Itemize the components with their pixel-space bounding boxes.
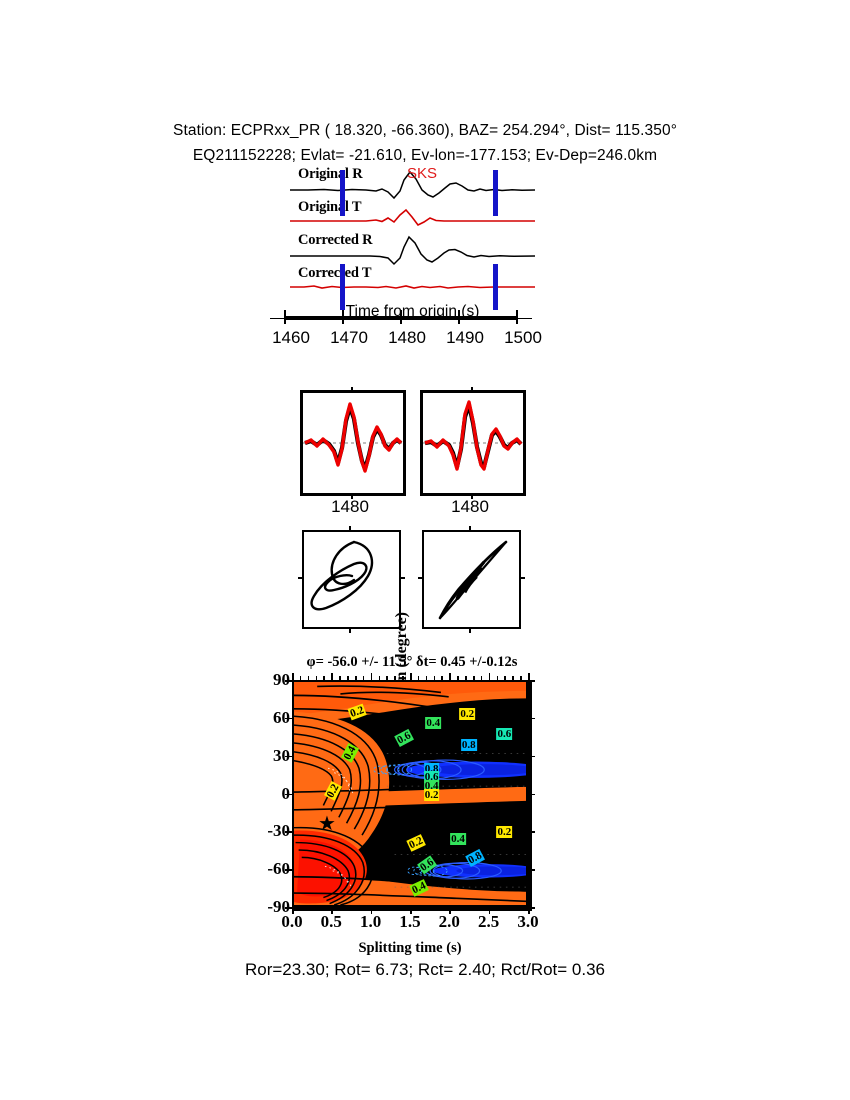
time-tick: 1470 [330,328,368,348]
y-tick-label: 90 [244,670,290,690]
particle-motion-corrected-curve [424,532,519,627]
particle-motion-box-corrected [422,530,521,629]
trace-row: Corrected T [290,267,535,300]
axis-tick [285,869,292,871]
trace-row: Original T [290,201,535,234]
axis-tick [489,673,491,680]
axis-tick [497,676,499,680]
particle-motion-uncorrected-curve [304,532,399,627]
axis-tick [292,673,294,680]
time-axis [262,310,540,324]
axis-tick [426,907,428,911]
y-tick-label: -60 [244,859,290,879]
axis-tick [371,673,373,680]
waveform-trace-panel: Original R Original T Corrected R Correc… [290,168,535,303]
trace-label: Corrected T [298,265,371,282]
axis-tick [379,676,381,680]
axis-tick [441,907,443,911]
axis-tick [528,680,535,682]
axis-tick [339,676,341,680]
axis-tick [441,676,443,680]
axis-tick [379,907,381,911]
axis-tick [449,673,451,680]
window-marker-start [340,170,345,216]
axis-tick [394,907,396,911]
axis-tick [481,907,483,911]
axis-tick [418,907,420,911]
axis-tick [285,907,292,909]
fast-slow-waveform-box [300,390,406,496]
axis-tick [426,676,428,680]
axis-tick [465,907,467,911]
quality-metrics-line: Ror=23.30; Rot= 6.73; Rct= 2.40; Rct/Rot… [0,960,850,980]
axis-tick [308,676,310,680]
contour-value-label: 0.4 [425,717,441,729]
axis-tick [528,869,535,871]
axis-tick [418,676,420,680]
axis-tick [339,907,341,911]
axis-tick [323,907,325,911]
y-tick-label: -30 [244,821,290,841]
window-marker-end [493,170,498,216]
station-info-line: Station: ECPRxx_PR ( 18.320, -66.360), B… [0,118,850,143]
axis-tick [473,676,475,680]
axis-tick [347,676,349,680]
trace-label: Original R [298,166,362,183]
axis-tick [465,676,467,680]
axis-tick [489,907,491,914]
axis-tick [402,676,404,680]
axis-tick [323,676,325,680]
time-tick: 1500 [504,328,542,348]
axis-tick [285,680,292,682]
axis-tick [285,794,292,796]
axis-tick [512,907,514,911]
axis-tick [528,673,530,680]
waveform-box-label: 1480 [297,497,403,517]
energy-contour-plot: Fast direction (degree) 90 60 30 0 -30 -… [292,680,528,907]
axis-tick [528,794,535,796]
fast-slow-overlay-curves [423,393,523,493]
y-tick-label: 30 [244,746,290,766]
axis-tick [285,831,292,833]
axis-tick [434,676,436,680]
figure-header: Station: ECPRxx_PR ( 18.320, -66.360), B… [0,118,850,168]
axis-tick [449,907,451,914]
trace-row: Corrected R [290,234,535,267]
y-tick-label: 0 [244,784,290,804]
axis-tick [308,907,310,911]
axis-tick [402,907,404,911]
x-tick-label: 3.0 [505,912,551,932]
x-axis-label: Splitting time (s) [292,940,528,957]
axis-tick [300,676,302,680]
particle-motion-box-uncorrected [302,530,401,629]
axis-tick [285,718,292,720]
axis-tick [504,676,506,680]
axis-tick [520,907,522,911]
fast-slow-waveform-box [420,390,526,496]
contour-value-label: 0.2 [496,826,512,838]
axis-tick [528,756,535,758]
axis-tick [316,907,318,911]
axis-tick [457,907,459,911]
fast-slow-overlay-curves [303,393,403,493]
splitting-parameters-title: φ= -56.0 +/- 11.5° δt= 0.45 +/-0.12s [232,654,592,671]
axis-tick [363,676,365,680]
axis-tick [410,907,412,914]
axis-tick [355,907,357,911]
time-tick: 1460 [272,328,310,348]
axis-tick [394,676,396,680]
svg-text:★: ★ [318,811,336,835]
axis-tick [473,907,475,911]
axis-tick [481,676,483,680]
axis-tick [363,907,365,911]
axis-tick [371,907,373,914]
contour-value-label: 0.6 [496,728,512,740]
axis-tick [528,907,530,914]
axis-tick [457,676,459,680]
axis-tick [285,756,292,758]
axis-tick [300,907,302,911]
time-tick: 1480 [388,328,426,348]
axis-tick [355,676,357,680]
axis-tick [504,907,506,911]
axis-tick [292,907,294,914]
trace-label: Corrected R [298,232,372,249]
axis-tick [316,676,318,680]
contour-value-label: 0.8 [461,739,477,751]
sks-phase-label: SKS [407,165,437,182]
axis-tick [528,718,535,720]
time-tick: 1490 [446,328,484,348]
contour-value-label: 0.2 [424,789,440,801]
axis-tick [386,676,388,680]
axis-tick [528,831,535,833]
axis-tick [520,676,522,680]
contour-value-label: 0.4 [450,833,466,845]
contour-value-label: 0.2 [459,708,475,720]
axis-tick [434,907,436,911]
axis-tick [331,673,333,680]
trace-label: Original T [298,199,361,216]
waveform-box-label: 1480 [417,497,523,517]
contour-canvas: ★ 0.20.40.20.60.40.20.60.80.80.60.40.20.… [292,680,532,911]
axis-tick [410,673,412,680]
axis-tick [497,907,499,911]
axis-tick [347,907,349,911]
axis-tick [331,907,333,914]
axis-tick [512,676,514,680]
axis-tick [386,907,388,911]
y-tick-label: 60 [244,708,290,728]
